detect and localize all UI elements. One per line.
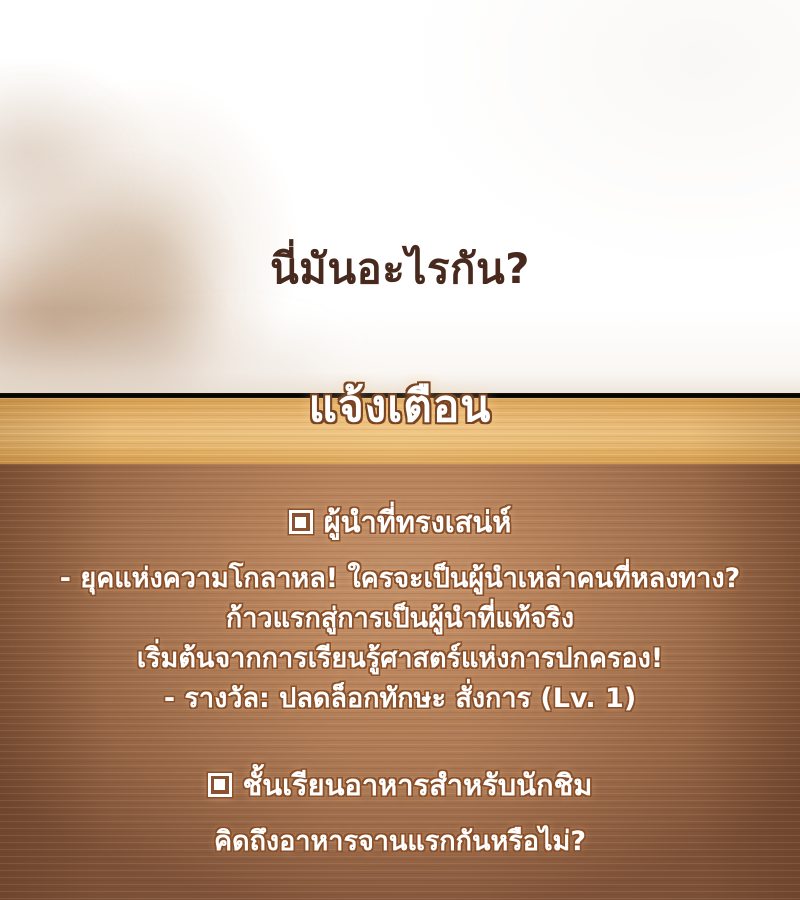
scene-blur-smudge [0, 300, 190, 396]
quest-description: คิดถึงอาหารจานแรกกันหรือไม่? [0, 822, 800, 862]
scene-blur-smudge [0, 120, 90, 230]
scene-dialogue-title: นี่มันอะไรกัน? [0, 244, 800, 294]
quest-description: - ยุคแห่งความโกลาหล! ใครจะเป็นผู้นำเหล่า… [0, 559, 800, 719]
scene-vignette [0, 0, 800, 396]
scene-background-blurred [0, 0, 800, 396]
panel-content: ผู้นำที่ทรงเสน่ห์ - ยุคแห่งความโกลาหล! ใ… [0, 464, 800, 862]
quest-title-row: ชั้นเรียนอาหารสำหรับนักชิม [0, 766, 800, 805]
comic-page: นี่มันอะไรกัน? ผู้นำที่ทรงเสน่ห์ - ยุคแห… [0, 0, 800, 900]
quest-line: - ยุคแห่งความโกลาหล! ใครจะเป็นผู้นำเหล่า… [0, 559, 800, 599]
quest-line: เริ่มต้นจากการเรียนรู้ศาสตร์แห่งการปกครอ… [0, 639, 800, 679]
quest-line: ก้าวแรกสู่การเป็นผู้นำที่แท้จริง [0, 599, 800, 639]
square-bullet-icon [208, 773, 232, 797]
notification-panel: ผู้นำที่ทรงเสน่ห์ - ยุคแห่งความโกลาหล! ใ… [0, 398, 800, 900]
quest-block: ผู้นำที่ทรงเสน่ห์ - ยุคแห่งความโกลาหล! ใ… [0, 503, 800, 719]
quest-block: ชั้นเรียนอาหารสำหรับนักชิม คิดถึงอาหารจา… [0, 766, 800, 862]
quest-line: คิดถึงอาหารจานแรกกันหรือไม่? [0, 822, 800, 862]
panel-heading: แจ้งเตือน [0, 383, 800, 431]
quest-title-label: ผู้นำที่ทรงเสน่ห์ [324, 505, 512, 539]
quest-title-label: ชั้นเรียนอาหารสำหรับนักชิม [243, 768, 593, 802]
square-bullet-icon [289, 510, 313, 534]
quest-title-row: ผู้นำที่ทรงเสน่ห์ [0, 503, 800, 542]
quest-reward-line: - รางวัล: ปลดล็อกทักษะ สั่งการ (Lv. 1) [0, 679, 800, 719]
